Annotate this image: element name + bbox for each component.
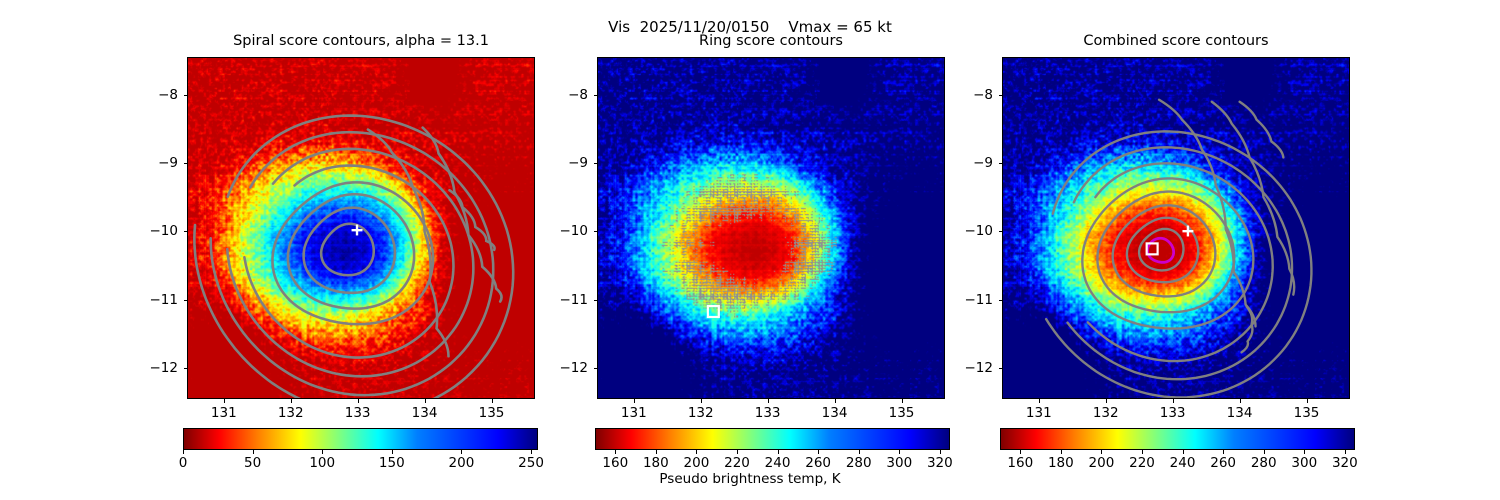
colorbar-tick-label-spiral: 50	[244, 455, 261, 471]
axes-combined[interactable]	[1002, 57, 1350, 399]
colorbar-tick-label-ring: 240	[765, 455, 791, 471]
x-tick-label-spiral: 132	[278, 405, 304, 421]
colorbar-tick-combined	[1264, 450, 1265, 454]
colorbar-tick-label-combined: 320	[1332, 455, 1358, 471]
y-tick-label-spiral: −11	[150, 292, 179, 308]
x-tick-label-ring: 132	[688, 405, 714, 421]
y-tick-label-ring: −9	[568, 155, 588, 171]
colorbar-tick-spiral	[183, 450, 184, 454]
colorbar-tick-ring	[899, 450, 900, 454]
y-tick-label-spiral: −12	[150, 360, 179, 376]
y-tick-label-combined: −8	[973, 87, 993, 103]
colorbar-tick-spiral	[461, 450, 462, 454]
colorbar-gradient-spiral	[183, 428, 538, 450]
x-tick-combined	[1173, 399, 1174, 403]
x-tick-label-ring: 133	[755, 405, 781, 421]
x-tick-label-ring: 131	[621, 405, 647, 421]
colorbar-tick-label-combined: 220	[1129, 455, 1155, 471]
panel-title-ring: Ring score contours	[597, 33, 945, 49]
y-tick-label-combined: −10	[965, 223, 994, 239]
y-tick-label-combined: −9	[973, 155, 993, 171]
colorbar-tick-combined	[1061, 450, 1062, 454]
y-tick-combined	[999, 368, 1003, 369]
x-tick-label-combined: 131	[1026, 405, 1052, 421]
x-tick-spiral	[358, 399, 359, 403]
x-tick-combined	[1106, 399, 1107, 403]
colorbar-tick-ring	[940, 450, 941, 454]
colorbar-tick-label-combined: 200	[1089, 455, 1115, 471]
colorbar-tick-label-ring: 200	[684, 455, 710, 471]
panel-title-spiral: Spiral score contours, alpha = 13.1	[187, 33, 535, 49]
colorbar-tick-label-ring: 320	[927, 455, 953, 471]
colorbar-tick-ring	[656, 450, 657, 454]
y-tick-label-spiral: −9	[158, 155, 178, 171]
y-tick-label-ring: −8	[568, 87, 588, 103]
colorbar-tick-label-spiral: 200	[449, 455, 475, 471]
colorbar-tick-label-spiral: 0	[179, 455, 188, 471]
colorbar-combined: 160180200220240260280300320	[1000, 428, 1355, 450]
x-tick-label-spiral: 131	[211, 405, 237, 421]
colorbar-tick-label-spiral: 100	[309, 455, 335, 471]
x-tick-ring	[701, 399, 702, 403]
colorbar-tick-spiral	[392, 450, 393, 454]
x-tick-ring	[835, 399, 836, 403]
panel-combined: 131132133134135−8−9−10−11−12	[1002, 57, 1350, 399]
y-tick-spiral	[184, 95, 188, 96]
x-tick-label-combined: 132	[1093, 405, 1119, 421]
y-tick-combined	[999, 300, 1003, 301]
satellite-image-combined	[1003, 58, 1349, 398]
colorbar-tick-label-ring: 180	[643, 455, 669, 471]
colorbar-ring: 160180200220240260280300320	[595, 428, 950, 450]
colorbar-tick-combined	[1183, 450, 1184, 454]
y-tick-spiral	[184, 300, 188, 301]
colorbar-tick-label-ring: 280	[846, 455, 872, 471]
y-tick-ring	[594, 163, 598, 164]
x-tick-label-combined: 133	[1160, 405, 1186, 421]
x-tick-combined	[1039, 399, 1040, 403]
colorbar-tick-label-ring: 220	[724, 455, 750, 471]
colorbar-tick-label-ring: 300	[886, 455, 912, 471]
colorbar-tick-label-ring: 160	[602, 455, 628, 471]
colorbar-tick-ring	[778, 450, 779, 454]
y-tick-spiral	[184, 231, 188, 232]
y-tick-label-ring: −10	[560, 223, 589, 239]
y-tick-label-ring: −12	[560, 360, 589, 376]
x-tick-ring	[768, 399, 769, 403]
colorbar-tick-spiral	[531, 450, 532, 454]
x-tick-label-spiral: 133	[345, 405, 371, 421]
x-tick-label-combined: 134	[1227, 405, 1253, 421]
panel-ring: 131132133134135−8−9−10−11−12	[597, 57, 945, 399]
colorbar-tick-combined	[1020, 450, 1021, 454]
colorbar-tick-combined	[1345, 450, 1346, 454]
y-tick-spiral	[184, 163, 188, 164]
x-tick-label-spiral: 134	[412, 405, 438, 421]
colorbar-tick-ring	[615, 450, 616, 454]
y-tick-combined	[999, 231, 1003, 232]
y-tick-label-combined: −12	[965, 360, 994, 376]
x-tick-label-combined: 135	[1294, 405, 1320, 421]
y-tick-label-spiral: −8	[158, 87, 178, 103]
colorbar-tick-spiral	[253, 450, 254, 454]
y-tick-label-combined: −11	[965, 292, 994, 308]
colorbar-tick-label-spiral: 250	[518, 455, 544, 471]
y-tick-ring	[594, 300, 598, 301]
x-tick-spiral	[425, 399, 426, 403]
colorbar-tick-label-combined: 180	[1048, 455, 1074, 471]
panel-title-combined: Combined score contours	[1002, 33, 1350, 49]
colorbar-tick-label-combined: 240	[1170, 455, 1196, 471]
colorbar-tick-label-combined: 300	[1291, 455, 1317, 471]
axes-spiral[interactable]	[187, 57, 535, 399]
x-tick-combined	[1240, 399, 1241, 403]
axes-ring[interactable]	[597, 57, 945, 399]
colorbar-tick-combined	[1142, 450, 1143, 454]
colorbar-tick-combined	[1101, 450, 1102, 454]
colorbar-tick-label-combined: 160	[1007, 455, 1033, 471]
matplotlib-figure: Vis 2025/11/20/0150 Vmax = 65 kt Spiral …	[0, 0, 1500, 500]
x-tick-combined	[1307, 399, 1308, 403]
colorbar-tick-label-ring: 260	[805, 455, 831, 471]
colorbar-tick-ring	[696, 450, 697, 454]
panel-spiral: 131132133134135−8−9−10−11−12	[187, 57, 535, 399]
satellite-image-spiral	[188, 58, 534, 398]
y-tick-ring	[594, 95, 598, 96]
x-tick-ring	[902, 399, 903, 403]
x-tick-spiral	[291, 399, 292, 403]
colorbar-tick-ring	[859, 450, 860, 454]
colorbar-tick-combined	[1304, 450, 1305, 454]
colorbar-tick-combined	[1223, 450, 1224, 454]
colorbar-tick-label-combined: 260	[1210, 455, 1236, 471]
colorbar-tick-spiral	[322, 450, 323, 454]
x-tick-label-ring: 134	[822, 405, 848, 421]
colorbar-tick-label-spiral: 150	[379, 455, 405, 471]
x-tick-spiral	[224, 399, 225, 403]
satellite-image-ring	[598, 58, 944, 398]
y-tick-label-ring: −11	[560, 292, 589, 308]
y-tick-ring	[594, 368, 598, 369]
x-tick-ring	[634, 399, 635, 403]
x-tick-label-ring: 135	[889, 405, 915, 421]
y-tick-spiral	[184, 368, 188, 369]
colorbar-gradient-ring	[595, 428, 950, 450]
colorbar-axis-label: Pseudo brightness temp, K	[0, 471, 1500, 487]
y-tick-combined	[999, 163, 1003, 164]
y-tick-combined	[999, 95, 1003, 96]
y-tick-label-spiral: −10	[150, 223, 179, 239]
colorbar-tick-label-combined: 280	[1251, 455, 1277, 471]
x-tick-label-spiral: 135	[479, 405, 505, 421]
colorbar-tick-ring	[737, 450, 738, 454]
y-tick-ring	[594, 231, 598, 232]
x-tick-spiral	[492, 399, 493, 403]
colorbar-tick-ring	[818, 450, 819, 454]
colorbar-gradient-combined	[1000, 428, 1355, 450]
colorbar-spiral: 050100150200250	[183, 428, 538, 450]
